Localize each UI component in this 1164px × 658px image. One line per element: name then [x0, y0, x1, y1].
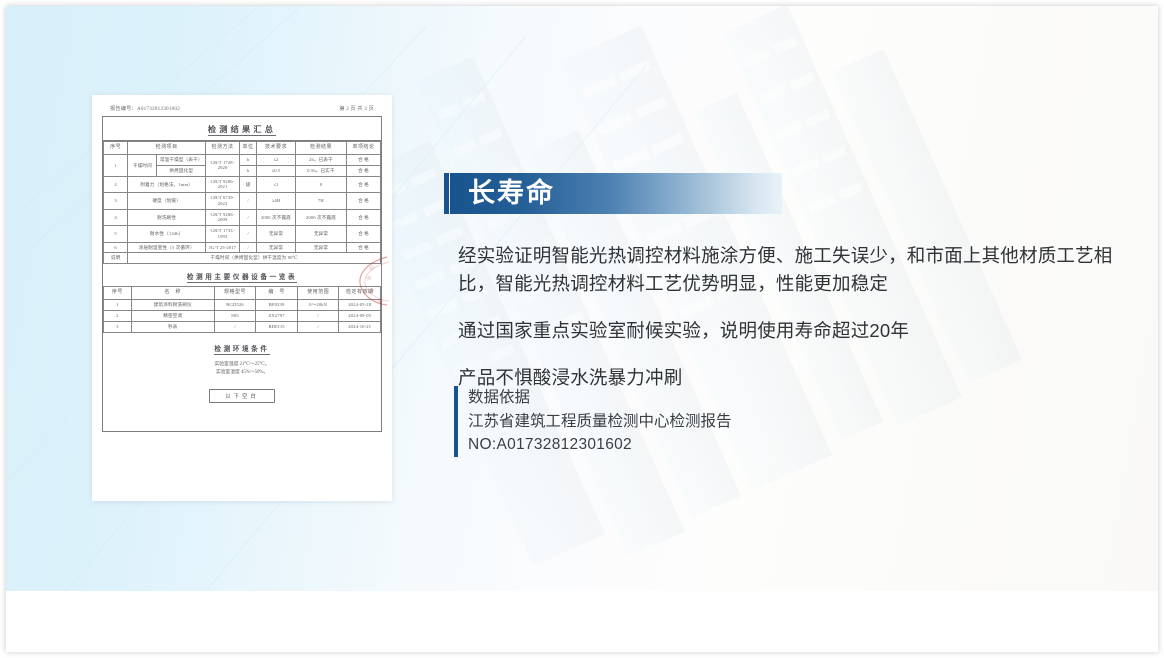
cell-method: GB/T 1728-2020 — [206, 155, 240, 176]
paragraph-1: 经实验证明智能光热调控材料施涂方便、施工失误少，和市面上其他材质工艺相比，智能光… — [458, 242, 1118, 298]
note-text: 干燥时间（烘烤固化型）烘干温度为 80℃ — [128, 253, 381, 264]
eq-cell-name: 建筑涂料耐洗刷仪 — [131, 300, 214, 311]
section-title-banner: 长寿命 — [450, 173, 782, 214]
page-number: 第 2 页 共 2 页 — [339, 105, 374, 112]
cell-item: 耐水性（144h） — [128, 226, 206, 242]
cell-item-sub: 常温干燥型（表干） — [157, 155, 206, 166]
table-row: 4 耐洗刷性 GB/T 9266-2009 / 2000 次不露底 2000 次… — [104, 209, 381, 225]
cell-method: GB/T 9266-2009 — [206, 209, 240, 225]
eq-cell-no: 1 — [104, 300, 132, 311]
slide-frame: 报告编号：A01732812301602 第 2 页 共 2 页 检测结果汇总 — [6, 6, 1158, 652]
note-label: 说明 — [104, 253, 128, 264]
page-title: 长寿命 — [450, 180, 555, 207]
table-row: 2 精密空调 805 ZX2797 / 2024-09-05 — [104, 311, 381, 322]
paragraph-2: 通过国家重点实验室耐候实验，说明使用寿命超过20年 — [458, 317, 1118, 345]
cell-unit: 级 — [240, 176, 257, 192]
cell-result: 7H — [295, 193, 346, 209]
eq-cell-model: BGD526 — [214, 300, 256, 311]
eq-cell-valid: 2024-10-21 — [339, 321, 381, 332]
cell-requirement: ≤0.5 — [257, 165, 296, 176]
cell-item: 耐洗刷性 — [128, 209, 206, 225]
cell-method: GB/T 6739-2022 — [206, 193, 240, 209]
source-organization: 江苏省建筑工程质量检测中心检测报告 — [468, 410, 988, 434]
eq-col-name: 名 称 — [131, 287, 214, 300]
document-page: 报告编号：A01732812301602 第 2 页 共 2 页 检测结果汇总 — [92, 95, 392, 501]
cell-conclusion: 合 格 — [346, 242, 380, 253]
results-table-frame: 检测结果汇总 序号 检测项目 检测方法 — [102, 116, 382, 432]
table-row: 3 硬度（划痕） GB/T 6739-2022 / ≥4H 7H 合 格 — [104, 193, 381, 209]
source-report-number: NO:A01732812301602 — [468, 433, 988, 457]
eq-cell-valid: 2024-09-05 — [339, 311, 381, 322]
cell-result: 0.5h，已实干 — [295, 165, 346, 176]
eq-cell-serial: ZX2797 — [256, 311, 298, 322]
cell-unit: h — [240, 155, 257, 166]
cell-unit: / — [240, 209, 257, 225]
table-row: 3 秒表 / BD0115 / 2024-10-21 — [104, 321, 381, 332]
cell-requirement: ≤2 — [257, 155, 296, 166]
eq-cell-serial: BD0115 — [256, 321, 298, 332]
cell-method: JG/T 25-2017 — [206, 242, 240, 253]
cell-result: 2000 次不露底 — [295, 209, 346, 225]
table-header-row: 序号 检测项目 检测方法 单位 技术要求 检测结果 单项结论 — [104, 142, 381, 155]
document-header: 报告编号：A01732812301602 第 2 页 共 2 页 — [102, 103, 382, 116]
cell-result: 无异常 — [295, 226, 346, 242]
eq-cell-serial: BF0239 — [256, 300, 298, 311]
eq-cell-no: 3 — [104, 321, 132, 332]
cell-method: GB/T 9286-2021 — [206, 176, 240, 192]
cell-item-group: 干燥时间 — [128, 155, 157, 176]
cell-requirement: ≥4H — [257, 193, 296, 209]
cell-result: 无异常 — [295, 242, 346, 253]
inspection-report-document[interactable]: 报告编号：A01732812301602 第 2 页 共 2 页 检测结果汇总 — [92, 95, 392, 501]
eq-col-model: 规格型号 — [214, 287, 256, 300]
eq-cell-range: / — [297, 321, 339, 332]
cell-method: GB/T 1733-1993 — [206, 226, 240, 242]
body-copy: 经实验证明智能光热调控材料施涂方便、施工失误少，和市面上其他材质工艺相比，智能光… — [458, 242, 1118, 392]
table-row: 2 附着力（划格法，1mm） GB/T 9286-2021 级 ≤1 0 合 格 — [104, 176, 381, 192]
cell-item: 附着力（划格法，1mm） — [128, 176, 206, 192]
cell-no: 1 — [104, 155, 128, 176]
cell-requirement: 无异常 — [257, 242, 296, 253]
banner-left-accent — [444, 173, 449, 214]
slide-stage: 报告编号：A01732812301602 第 2 页 共 2 页 检测结果汇总 — [6, 6, 1158, 591]
table-row: 1 干燥时间 常温干燥型（表干） GB/T 1728-2020 h ≤2 2h，… — [104, 155, 381, 166]
environment-title: 检测环境条件 — [103, 333, 381, 358]
cell-item: 涂层耐温变性（5 次循环） — [128, 242, 206, 253]
col-requirement: 技术要求 — [257, 142, 296, 155]
eq-col-serial: 编 号 — [256, 287, 298, 300]
eq-col-range: 使用范围 — [297, 287, 339, 300]
col-unit: 单位 — [240, 142, 257, 155]
cell-unit: / — [240, 242, 257, 253]
col-conclusion: 单项结论 — [346, 142, 380, 155]
cell-conclusion: 合 格 — [346, 176, 380, 192]
table-row: 1 建筑涂料耐洗刷仪 BGD526 BF0239 0～20kN 2024-05-… — [104, 300, 381, 311]
table-note-row: 说明 干燥时间（烘烤固化型）烘干温度为 80℃ — [104, 253, 381, 264]
blank-below-note: 以下空白 — [209, 389, 275, 403]
footer-band: 京芯新材料 JINGXIN NANO MATERIALS — [6, 591, 1158, 652]
eq-cell-range: 0～20kN — [297, 300, 339, 311]
eq-cell-name: 秒表 — [131, 321, 214, 332]
eq-cell-no: 2 — [104, 311, 132, 322]
env-humidity: 实验室湿度 45%～50%。 — [103, 369, 381, 377]
table-row: 6 涂层耐温变性（5 次循环） JG/T 25-2017 / 无异常 无异常 合… — [104, 242, 381, 253]
eq-cell-valid: 2024-05-28 — [339, 300, 381, 311]
data-source-block: 数据依据 江苏省建筑工程质量检测中心检测报告 NO:A0173281230160… — [454, 386, 988, 457]
cell-no: 2 — [104, 176, 128, 192]
col-result: 检测结果 — [295, 142, 346, 155]
cell-no: 5 — [104, 226, 128, 242]
cell-item: 硬度（划痕） — [128, 193, 206, 209]
environment-conditions: 实验室温度 21℃～25℃。 实验室湿度 45%～50%。 — [103, 358, 381, 377]
cell-requirement: 2000 次不露底 — [257, 209, 296, 225]
cell-conclusion: 合 格 — [346, 165, 380, 176]
equipment-table-title: 检测用主要仪器设备一览表 — [103, 264, 381, 286]
cell-conclusion: 合 格 — [346, 209, 380, 225]
col-no: 序号 — [104, 142, 128, 155]
cell-item-sub: 烘烤固化型 — [157, 165, 206, 176]
eq-col-valid: 检定有效期 — [339, 287, 381, 300]
cell-unit: / — [240, 193, 257, 209]
env-temperature: 实验室温度 21℃～25℃。 — [103, 361, 381, 369]
cell-requirement: ≤1 — [257, 176, 296, 192]
eq-cell-model: 805 — [214, 311, 256, 322]
cell-result: 0 — [295, 176, 346, 192]
eq-cell-range: / — [297, 311, 339, 322]
eq-cell-name: 精密空调 — [131, 311, 214, 322]
cell-requirement: 无异常 — [257, 226, 296, 242]
cell-conclusion: 合 格 — [346, 226, 380, 242]
eq-col-no: 序号 — [104, 287, 132, 300]
cell-no: 6 — [104, 242, 128, 253]
cell-unit: / — [240, 226, 257, 242]
results-table-title: 检测结果汇总 — [103, 117, 381, 141]
cell-no: 3 — [104, 193, 128, 209]
equipment-header-row: 序号 名 称 规格型号 编 号 使用范围 检定有效期 — [104, 287, 381, 300]
source-label: 数据依据 — [468, 386, 988, 410]
cell-conclusion: 合 格 — [346, 155, 380, 166]
cell-no: 4 — [104, 209, 128, 225]
cell-unit: h — [240, 165, 257, 176]
col-method: 检测方法 — [206, 142, 240, 155]
col-item: 检测项目 — [128, 142, 206, 155]
results-table: 序号 检测项目 检测方法 单位 技术要求 检测结果 单项结论 1 干燥时间 — [103, 141, 381, 264]
table-row: 5 耐水性（144h） GB/T 1733-1993 / 无异常 无异常 合 格 — [104, 226, 381, 242]
equipment-table: 序号 名 称 规格型号 编 号 使用范围 检定有效期 1 建筑涂料耐洗刷仪 BG… — [103, 286, 381, 332]
report-number: 报告编号：A01732812301602 — [110, 105, 180, 112]
cell-conclusion: 合 格 — [346, 193, 380, 209]
cell-result: 2h，已表干 — [295, 155, 346, 166]
slide-root: 报告编号：A01732812301602 第 2 页 共 2 页 检测结果汇总 — [0, 0, 1164, 658]
eq-cell-model: / — [214, 321, 256, 332]
